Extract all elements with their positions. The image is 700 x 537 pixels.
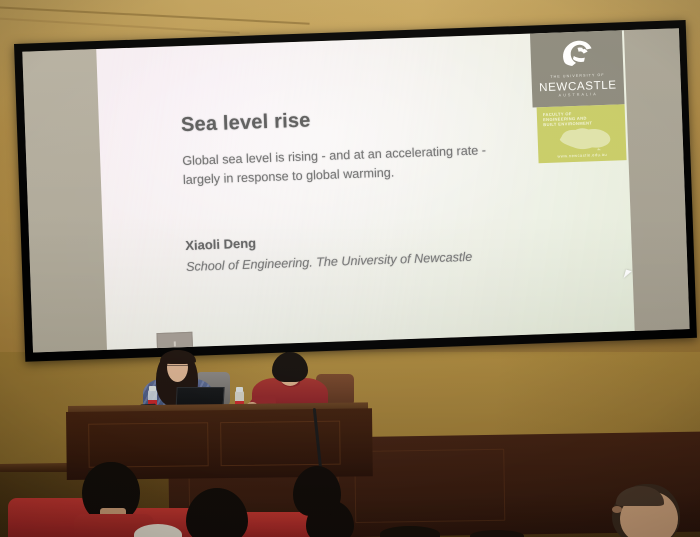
australia-map-icon (551, 125, 616, 153)
university-logo-block: THE UNIVERSITY OF NEWCASTLE AUSTRALIA FA… (530, 28, 627, 163)
slide-affiliation: School of Engineering. The University of… (186, 247, 516, 276)
table-panel-inset-1 (88, 422, 209, 467)
slide-title: Sea level rise (181, 109, 311, 137)
bottle-cap (149, 386, 156, 391)
screen-unlit-right (624, 28, 690, 331)
lecture-hall-photo: Sea level rise Global sea level is risin… (0, 0, 700, 537)
audience-head-7 (470, 530, 524, 537)
broken-image-icon (174, 341, 176, 346)
projection-screen-frame: Sea level rise Global sea level is risin… (14, 20, 697, 362)
wood-panel-inset-2 (354, 449, 505, 523)
logo-grey-panel: THE UNIVERSITY OF NEWCASTLE AUSTRALIA (530, 28, 625, 107)
slide-author: Xiaoli Deng (185, 235, 256, 253)
audience-head-5-ear (612, 506, 622, 513)
presenter-right-hair (272, 352, 308, 382)
newcastle-horse-crest-icon (559, 38, 594, 69)
presentation-slide: Sea level rise Global sea level is risin… (96, 30, 634, 350)
table-panel-inset-2 (220, 421, 341, 466)
audience-head-4 (293, 466, 341, 516)
logo-green-panel: FACULTY OF ENGINEERING AND BUILT ENVIRON… (537, 104, 627, 163)
projection-screen: Sea level rise Global sea level is risin… (22, 28, 689, 352)
slide-body-text: Global sea level is rising - and at an a… (182, 141, 503, 189)
audience-head-6 (380, 526, 440, 537)
mouse-pointer-icon (624, 270, 632, 280)
presenter-left-glasses (167, 365, 188, 369)
screen-unlit-left (22, 49, 107, 352)
bottle-cap (236, 387, 243, 392)
